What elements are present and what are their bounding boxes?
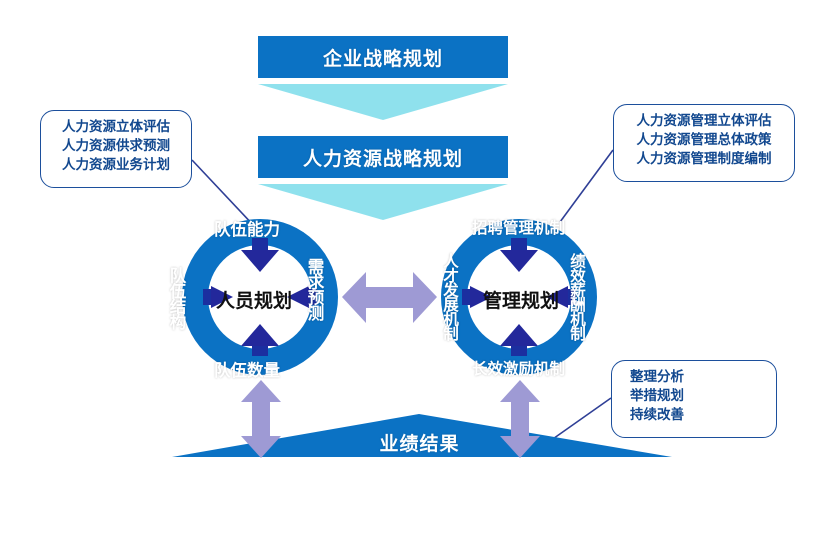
right-cycle-circle [441, 219, 597, 375]
callout-bottom-line-3: 持续改善 [630, 406, 766, 425]
callout-right: 人力资源管理立体评估 人力资源管理总体政策 人力资源管理制度编制 [613, 104, 795, 182]
callout-bottom-line-2: 举措规划 [630, 387, 766, 406]
center-double-arrow [342, 272, 437, 323]
callout-right-line-3: 人力资源管理制度编制 [624, 150, 784, 169]
callout-bottom-line-1: 整理分析 [630, 368, 766, 387]
callout-left-line-1: 人力资源立体评估 [51, 118, 181, 137]
callout-left-line-3: 人力资源业务计划 [51, 156, 181, 175]
callout-right-line-1: 人力资源管理立体评估 [624, 112, 784, 131]
connector-line-right [560, 150, 613, 222]
left-cycle-circle [182, 219, 338, 375]
connector-line-left [192, 160, 256, 228]
bottom-banner-shape [172, 414, 672, 457]
diagram-art-layer [0, 0, 839, 546]
callout-left-line-2: 人力资源供求预测 [51, 137, 181, 156]
diagram-canvas: 企业战略规划 人力资源战略规划 [0, 0, 839, 546]
callout-left: 人力资源立体评估 人力资源供求预测 人力资源业务计划 [40, 110, 192, 188]
callout-bottom-right: 整理分析 举措规划 持续改善 [611, 360, 777, 438]
callout-right-line-2: 人力资源管理总体政策 [624, 131, 784, 150]
